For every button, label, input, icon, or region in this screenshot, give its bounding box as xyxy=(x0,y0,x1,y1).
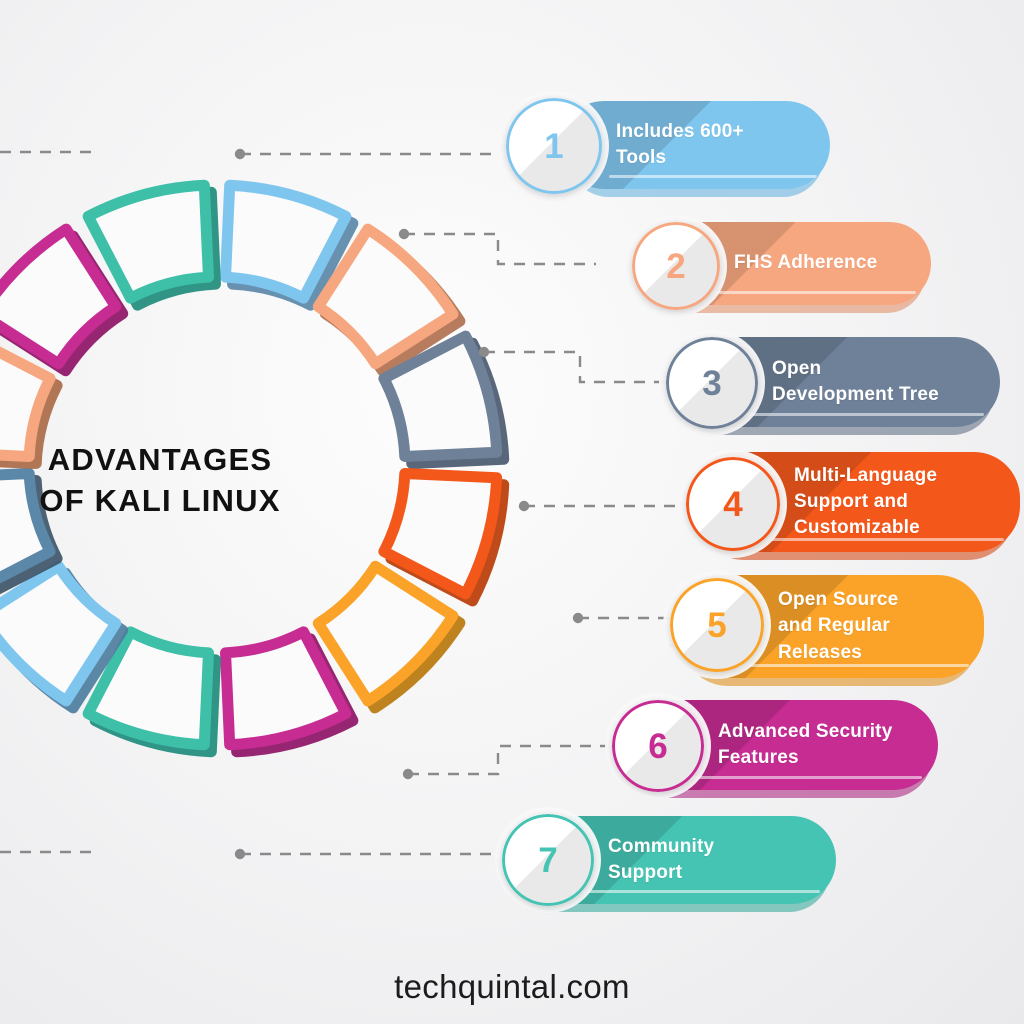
advantage-number: 4 xyxy=(723,487,742,522)
pill-underline xyxy=(674,776,922,779)
connector-dot xyxy=(235,149,245,159)
connector-dot xyxy=(399,229,409,239)
advantage-label: FHS Adherence xyxy=(734,250,877,276)
connector-dot xyxy=(235,849,245,859)
connector-dot xyxy=(573,613,583,623)
advantage-number: 5 xyxy=(707,608,726,643)
connector-line xyxy=(484,352,664,382)
connector-line xyxy=(404,234,596,264)
advantage-number-badge[interactable]: 7 xyxy=(502,814,594,906)
advantage-label: Advanced SecurityFeatures xyxy=(718,719,892,771)
advantage-number-badge[interactable]: 3 xyxy=(666,337,758,429)
advantage-label: Includes 600+Tools xyxy=(616,119,744,171)
infographic-canvas: ADVANTAGES OF KALI LINUX Includes 600+To… xyxy=(0,0,1024,1024)
pill-underline xyxy=(689,291,916,294)
advantage-number: 1 xyxy=(544,129,563,164)
advantage-number-badge[interactable]: 5 xyxy=(670,578,764,672)
advantage-number-badge[interactable]: 4 xyxy=(686,457,780,551)
connector-line xyxy=(408,746,606,774)
connector-line xyxy=(578,618,672,646)
pill-underline xyxy=(565,890,819,893)
connector-dot xyxy=(479,347,489,357)
advantage-label: OpenDevelopment Tree xyxy=(772,356,939,408)
advantage-number-badge[interactable]: 6 xyxy=(612,700,704,792)
pill-underline xyxy=(729,413,983,416)
connector-dot xyxy=(403,769,413,779)
site-watermark: techquintal.com xyxy=(0,968,1024,1006)
advantage-number-badge[interactable]: 1 xyxy=(506,98,602,194)
connector-dot xyxy=(519,501,529,511)
advantage-number: 2 xyxy=(666,249,685,284)
advantage-number: 6 xyxy=(648,729,667,764)
advantage-label: CommunitySupport xyxy=(608,834,714,886)
advantage-number: 3 xyxy=(702,366,721,401)
pill-underline xyxy=(609,175,817,178)
advantage-number: 7 xyxy=(538,843,557,878)
advantage-label: Open Sourceand RegularReleases xyxy=(778,587,898,666)
advantage-label: Multi-LanguageSupport andCustomizable xyxy=(794,463,937,542)
advantage-number-badge[interactable]: 2 xyxy=(632,222,720,310)
